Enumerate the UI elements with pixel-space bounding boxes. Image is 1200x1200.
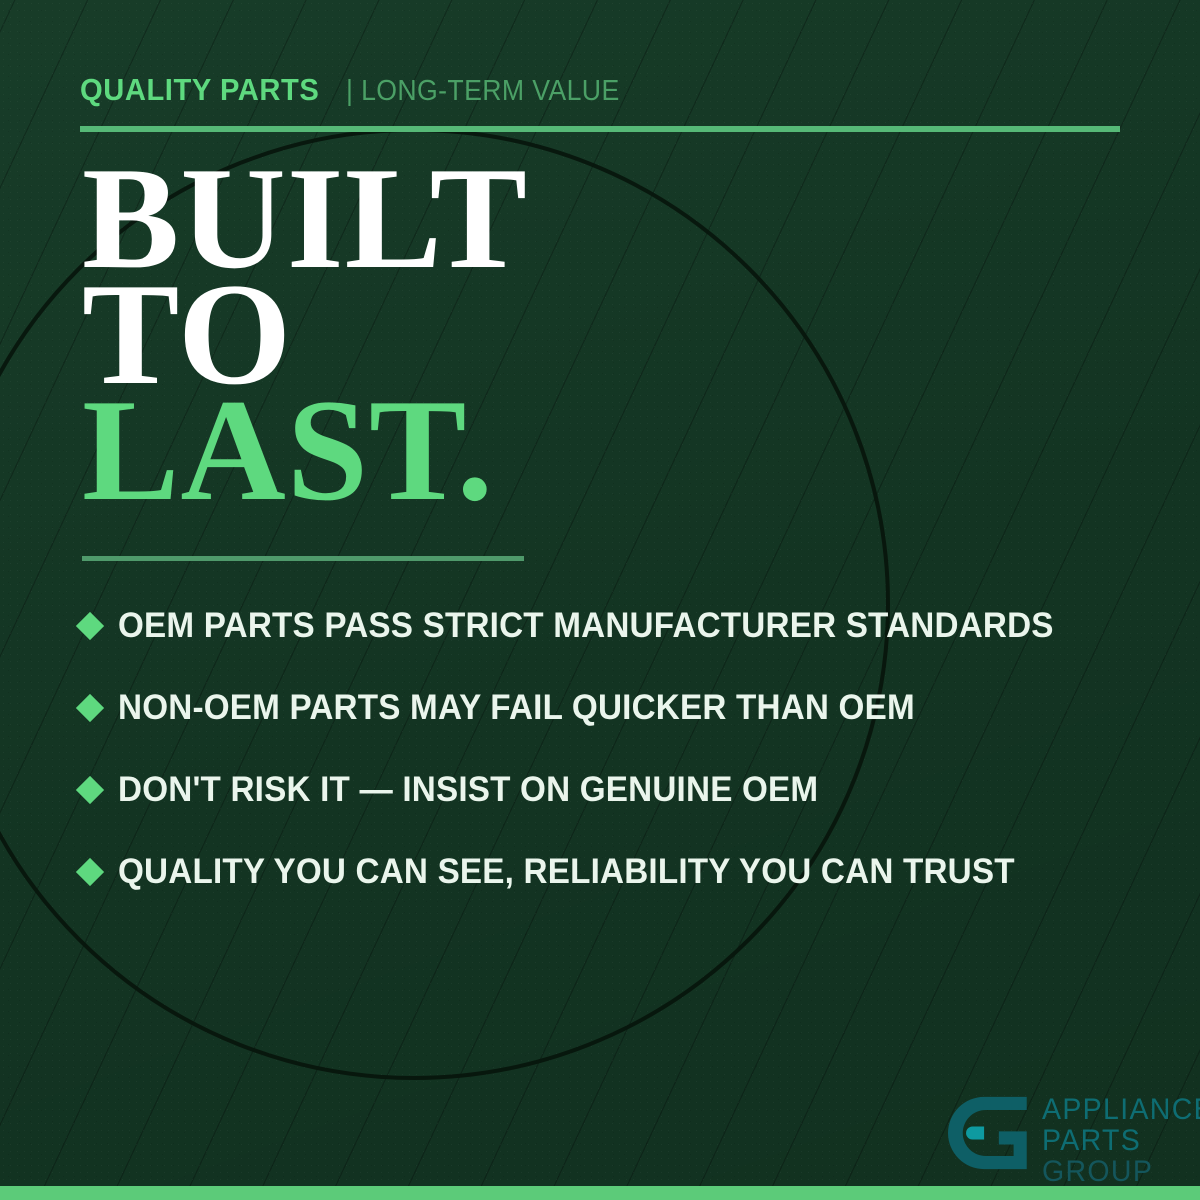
page-title: BUILT TO LAST. (82, 160, 528, 508)
brand-logo: APPLIANCE PARTS GROUP (948, 1092, 1200, 1187)
kicker-main-label: QUALITY PARTS (80, 72, 319, 108)
headline-line-3: LAST. (82, 392, 528, 508)
list-item-label: NON-OEM PARTS MAY FAIL QUICKER THAN OEM (118, 688, 915, 728)
list-item-label: QUALITY YOU CAN SEE, RELIABILITY YOU CAN… (118, 852, 1015, 892)
list-item: OEM PARTS PASS STRICT MANUFACTURER STAND… (80, 585, 1160, 667)
diamond-bullet-icon (76, 776, 104, 804)
logo-line-3: GROUP (1042, 1156, 1200, 1187)
diamond-bullet-icon (76, 612, 104, 640)
list-item-label: DON'T RISK IT — INSIST ON GENUINE OEM (118, 770, 818, 810)
kicker-sub-label: | LONG-TERM VALUE (346, 75, 620, 108)
bottom-accent-bar (0, 1186, 1200, 1200)
list-item: DON'T RISK IT — INSIST ON GENUINE OEM (80, 749, 1160, 831)
poster-content: QUALITY PARTS | LONG-TERM VALUE BUILT TO… (0, 0, 1200, 1200)
appliance-parts-group-g-icon (948, 1092, 1030, 1174)
logo-line-1: APPLIANCE (1042, 1094, 1200, 1125)
list-item-label: OEM PARTS PASS STRICT MANUFACTURER STAND… (118, 606, 1054, 646)
diamond-bullet-icon (76, 694, 104, 722)
list-item: NON-OEM PARTS MAY FAIL QUICKER THAN OEM (80, 667, 1160, 749)
list-item: QUALITY YOU CAN SEE, RELIABILITY YOU CAN… (80, 831, 1160, 913)
promo-poster: QUALITY PARTS | LONG-TERM VALUE BUILT TO… (0, 0, 1200, 1200)
diamond-bullet-icon (76, 858, 104, 886)
brand-logo-wordmark: APPLIANCE PARTS GROUP (1042, 1092, 1200, 1187)
headline-divider-rule (82, 556, 524, 561)
logo-line-2: PARTS (1042, 1125, 1200, 1156)
header-divider-rule (80, 126, 1120, 132)
kicker: QUALITY PARTS | LONG-TERM VALUE (80, 72, 643, 108)
benefits-list: OEM PARTS PASS STRICT MANUFACTURER STAND… (80, 585, 1160, 913)
